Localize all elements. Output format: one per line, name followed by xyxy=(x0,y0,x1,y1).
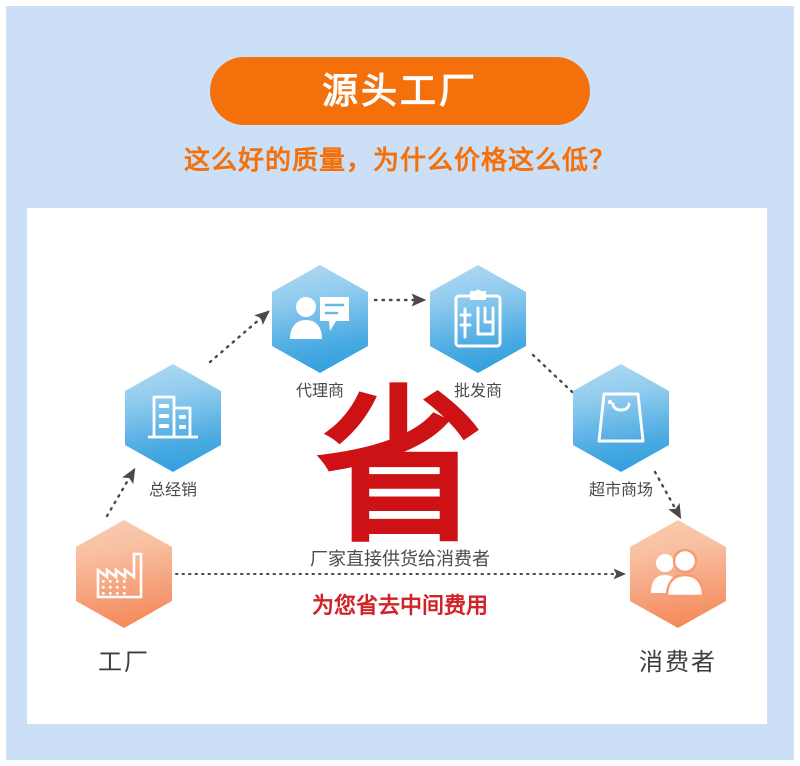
node-supermarket[interactable]: 超市商场 xyxy=(573,364,669,472)
hexagon-shape xyxy=(630,520,726,628)
node-label: 消费者 xyxy=(598,642,758,677)
node-label: 工厂 xyxy=(44,642,204,677)
node-label: 超市商场 xyxy=(541,476,701,500)
page-subtitle: 这么好的质量，为什么价格这么低？ xyxy=(0,140,800,177)
badge-label: 源头工厂 xyxy=(322,73,478,109)
shopping-bag-icon xyxy=(595,390,647,446)
factory-icon xyxy=(95,548,153,600)
node-label: 总经销 xyxy=(93,476,253,500)
node-agent[interactable]: 代理商 xyxy=(272,265,368,373)
node-factory[interactable]: 工厂 xyxy=(76,520,172,628)
clipboard-pi-icon xyxy=(452,288,504,350)
office-building-icon xyxy=(145,391,201,445)
node-distributor[interactable]: 总经销 xyxy=(125,364,221,472)
node-consumer[interactable]: 消费者 xyxy=(630,520,726,628)
people-group-icon xyxy=(648,549,708,599)
source-factory-badge: 源头工厂 xyxy=(210,57,590,125)
hexagon-shape xyxy=(272,265,368,373)
node-wholesaler[interactable]: 批发商 xyxy=(430,265,526,373)
hexagon-shape xyxy=(430,265,526,373)
hexagon-shape xyxy=(573,364,669,472)
hexagon-shape xyxy=(76,520,172,628)
person-chat-icon xyxy=(289,293,351,345)
savings-watermark-char: 省 xyxy=(300,384,500,552)
direct-supply-caption: 厂家直接供货给消费者 xyxy=(260,545,540,571)
hexagon-shape xyxy=(125,364,221,472)
savings-caption: 为您省去中间费用 xyxy=(260,588,540,620)
